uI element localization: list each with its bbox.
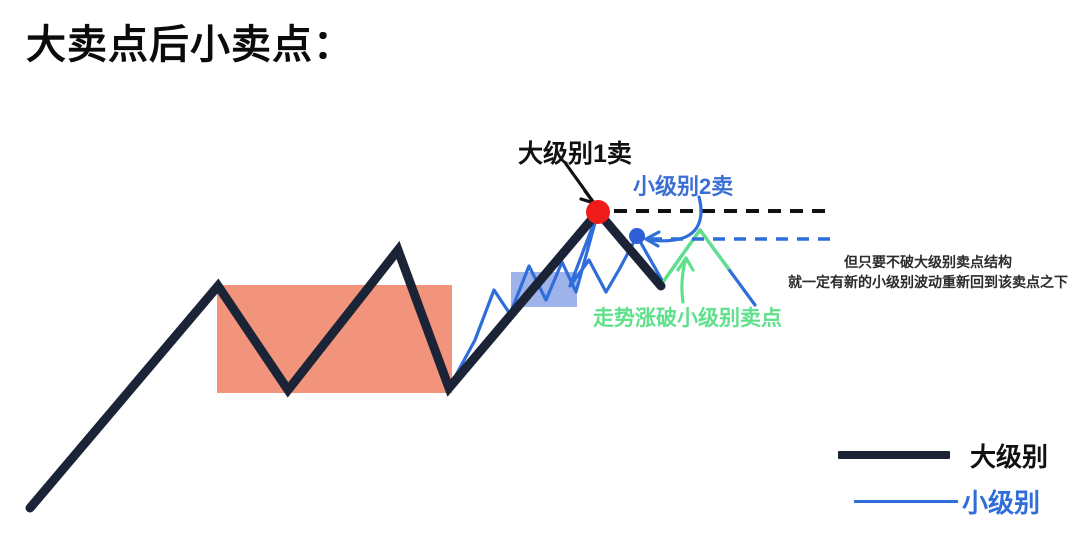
legend-item-major: 大级别: [838, 432, 1068, 478]
page-title: 大卖点后小卖点：: [26, 22, 354, 68]
legend-swatch-major-icon: [838, 451, 958, 459]
legend: 大级别 小级别: [838, 432, 1068, 524]
structure-note: 但只要不破大级别卖点结构 就一定有新的小级别波动重新回到该卖点之下: [788, 252, 1068, 293]
label-minor-sell-point: 小级别2卖: [633, 174, 733, 199]
label-breakout-note: 走势涨破小级别卖点: [593, 307, 782, 331]
legend-label-minor: 小级别: [962, 483, 1040, 520]
legend-swatch-minor-icon: [838, 500, 958, 503]
structure-note-line-1: 但只要不破大级别卖点结构: [788, 252, 1068, 272]
structure-note-line-2: 就一定有新的小级别波动重新回到该卖点之下: [788, 272, 1068, 292]
major-sell-point-dot: [586, 200, 610, 224]
legend-label-major: 大级别: [970, 437, 1048, 474]
diagram-canvas: 大卖点后小卖点： 大级别1卖 小级别2卖 走势涨破小级别卖点 但只要不破大级别卖…: [0, 0, 1080, 540]
label-major-sell-point: 大级别1卖: [518, 140, 632, 169]
major-sell-arrowhead-icon: [581, 191, 594, 203]
minor-sell-point-dot: [629, 228, 645, 244]
legend-item-minor: 小级别: [838, 478, 1068, 524]
minor-degree-line: [449, 212, 755, 388]
